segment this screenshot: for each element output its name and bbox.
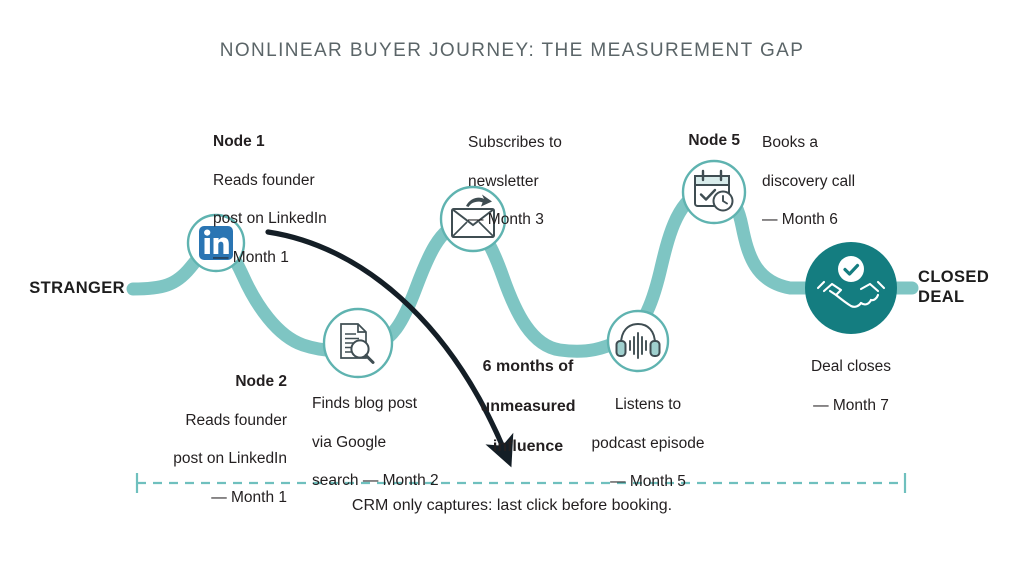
label-node-linkedin-line1: Reads founder xyxy=(213,172,315,189)
label-closed-deal-line2: — Month 7 xyxy=(813,397,889,414)
node-blog-search[interactable] xyxy=(324,309,392,377)
label-blog-search: Finds blog post via Google search — Mont… xyxy=(312,375,477,490)
label-node-2: Node 2 Reads founder post on LinkedIn — … xyxy=(115,353,287,507)
unmeasured-line1: 6 months of xyxy=(483,358,574,375)
endpoint-closed-deal: CLOSED DEAL xyxy=(918,268,1018,308)
label-discovery-call-line2: discovery call xyxy=(762,173,855,190)
label-node-linkedin-line3: — Month 1 xyxy=(213,249,289,266)
label-node-2-heading: Node 2 xyxy=(115,372,287,391)
label-newsletter-line1: Subscribes to xyxy=(468,134,562,151)
label-newsletter: Subscribes to newsletter — Month 3 xyxy=(468,114,628,229)
label-blog-search-line2: via Google xyxy=(312,434,386,451)
label-newsletter-line2: newsletter xyxy=(468,173,539,190)
closed-deal-line1: CLOSED xyxy=(918,268,989,286)
bracket-caption: CRM only captures: last click before boo… xyxy=(0,497,1024,515)
label-discovery-call-line3: — Month 6 xyxy=(762,211,838,228)
label-newsletter-line3: — Month 3 xyxy=(468,211,544,228)
label-podcast-line2: podcast episode xyxy=(592,435,705,452)
unmeasured-line2: unmeasured xyxy=(480,398,575,415)
label-node-2-line2: post on LinkedIn xyxy=(173,450,287,467)
endpoint-stranger: STRANGER xyxy=(20,279,125,299)
node-podcast[interactable] xyxy=(608,311,668,371)
diagram-canvas: NONLINEAR BUYER JOURNEY: THE MEASUREMENT… xyxy=(0,0,1024,572)
closed-deal-line2: DEAL xyxy=(918,288,965,306)
node-closed-deal[interactable] xyxy=(805,242,897,334)
calendar-clock-icon xyxy=(695,171,733,211)
label-closed-deal: Deal closes — Month 7 xyxy=(771,338,931,415)
label-discovery-call: Books a discovery call — Month 6 xyxy=(762,114,922,229)
label-blog-search-line3: search — Month 2 xyxy=(312,472,439,489)
label-node-5-heading: Node 5 xyxy=(620,131,740,150)
label-node-2-line1: Reads founder xyxy=(185,412,287,429)
label-node-linkedin-heading: Node 1 xyxy=(213,132,383,151)
label-blog-search-line1: Finds blog post xyxy=(312,395,417,412)
label-unmeasured-influence: 6 months of unmeasured influence xyxy=(463,337,593,457)
label-discovery-call-line1: Books a xyxy=(762,134,818,151)
label-podcast-line3: — Month 5 xyxy=(610,473,686,490)
unmeasured-line3: influence xyxy=(493,438,563,455)
node-discovery-call[interactable] xyxy=(683,161,745,223)
label-node-linkedin: Node 1 Reads founder post on LinkedIn — … xyxy=(213,113,383,267)
label-node-linkedin-line2: post on LinkedIn xyxy=(213,210,327,227)
label-closed-deal-line1: Deal closes xyxy=(811,358,891,375)
label-podcast-line1: Listens to xyxy=(615,396,681,413)
